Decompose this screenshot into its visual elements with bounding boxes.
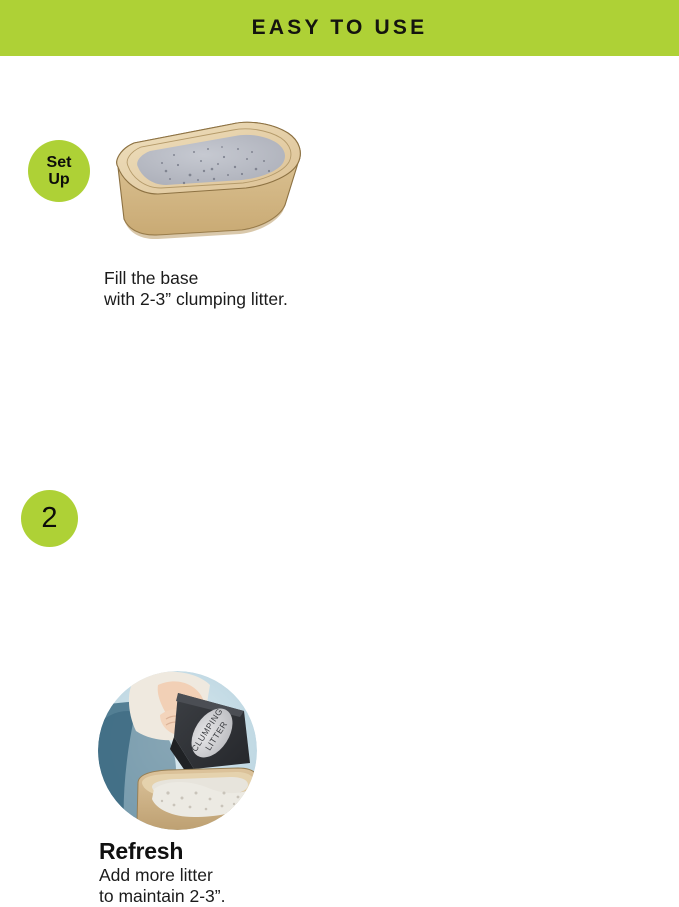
badge-step-2: 2 [21,490,78,547]
badge-step-2-number: 2 [41,504,57,533]
badge-setup: Set Up [28,140,90,202]
page-title: EASY TO USE [252,16,428,40]
step-refresh: 2 [0,342,339,628]
step-setup: Set Up [0,56,339,342]
steps-grid: Set Up [0,56,679,628]
step-clean: 1 [340,56,679,342]
header-banner: EASY TO USE [0,0,679,56]
caption-refresh-line-2: to maintain 2-3”. [99,886,225,907]
caption-refresh-title: Refresh [99,838,225,864]
caption-setup-line-1: Fill the base [104,268,288,289]
caption-refresh-line-1: Add more litter [99,865,225,886]
caption-setup-line-2: with 2-3” clumping litter. [104,289,288,310]
caption-setup: Fill the base with 2-3” clumping litter. [104,268,288,310]
badge-setup-line1: Set [47,154,72,171]
litter-tray-illustration [104,119,308,239]
photo-pouring-litter: CLUMPING LITTER [98,671,257,830]
caption-refresh: Refresh Add more litter to maintain 2-3”… [99,838,225,907]
badge-setup-line2: Up [47,171,72,188]
step-dispose: 3 [340,342,679,628]
